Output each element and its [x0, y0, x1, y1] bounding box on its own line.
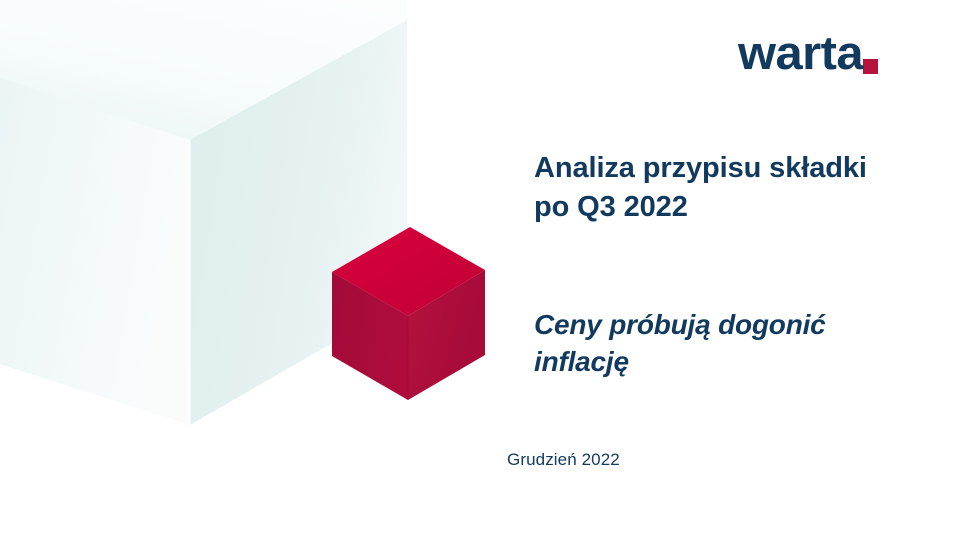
large-cube-top-face-wedge: [0, 0, 407, 140]
warta-logo-dot-icon: [863, 59, 878, 74]
page-subtitle-line-1: Ceny próbują dogonić: [534, 309, 826, 340]
crimson-cube-left-face: [332, 272, 408, 400]
publication-date: Grudzień 2022: [507, 450, 620, 470]
page-title: Analiza przypisu składki po Q3 2022: [534, 149, 944, 226]
page-title-line-2: po Q3 2022: [534, 191, 688, 223]
large-cube-group: [0, 0, 407, 426]
page-subtitle: Ceny próbują dogonić inflację: [534, 306, 944, 380]
crimson-cube-right-face: [408, 270, 485, 400]
large-cube-right-face: [190, 20, 407, 425]
large-cube-front-edge-highlight: [188, 140, 191, 426]
page-title-line-1: Analiza przypisu składki: [534, 152, 867, 184]
page-subtitle-line-2: inflację: [534, 346, 629, 377]
crimson-cube-top-face: [332, 227, 485, 316]
crimson-cube-edge-highlight: [332, 270, 485, 316]
large-cube-left-face: [0, 58, 190, 425]
large-cube-top-face: [0, 0, 407, 140]
warta-logo: warta: [738, 24, 878, 76]
slide-canvas: warta Analiza przypisu składki po Q3 202…: [0, 0, 960, 540]
crimson-cube-group: [332, 227, 485, 400]
warta-wordmark: warta: [738, 29, 863, 76]
decorative-cube-illustration: [0, 0, 960, 540]
